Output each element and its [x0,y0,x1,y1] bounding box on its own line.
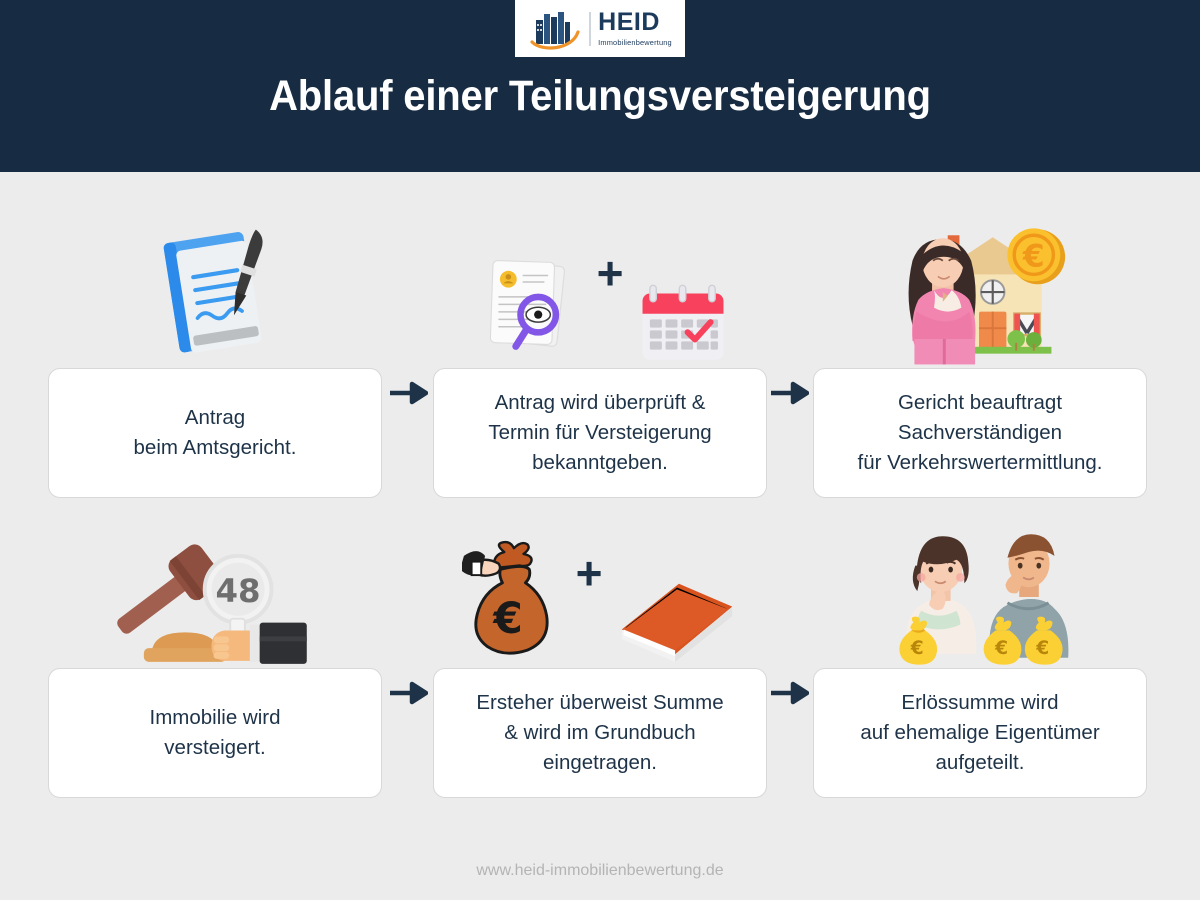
logo-tagline: Immobilienbewertung [598,38,672,47]
appraiser-woman-house-euro-icon: € [889,220,1071,366]
step-6-label: Erlössumme wird auf ehemalige Eigentümer… [860,688,1099,778]
calendar-check-icon [637,280,729,366]
step-4-label: Immobilie wird versteigert. [150,703,281,763]
step-4-illustration: 48 [48,506,382,666]
flow-row-2: 48 Immobilie [0,498,1200,798]
svg-text:€: € [910,638,924,659]
svg-text:€: € [1035,638,1049,659]
svg-text:€: € [994,638,1008,659]
step-3-label: Gericht beauftragt Sachverständigen für … [858,388,1103,478]
flow-arrow-2 [769,380,809,406]
footer-url: www.heid-immobilienbewertung.de [0,862,1200,880]
plus-separator-step5: + [576,550,603,596]
step-6-illustration: € € € [813,506,1147,666]
step-6-card: Erlössumme wird auf ehemalige Eigentümer… [813,668,1147,798]
process-flow: Antrag beim Amtsgericht. [0,172,1200,842]
flow-arrow-3 [388,680,428,706]
flow-step-5: € + [433,498,767,798]
step-3-illustration: € [813,206,1147,366]
flow-arrow-4 [769,680,809,706]
page-title: Ablauf einer Teilungsversteigerung [42,72,1158,121]
heid-logo: HEID Immobilienbewertung [515,0,685,57]
step-5-label: Ersteher überweist Summe & wird im Grund… [476,688,723,778]
step-4-card: Immobilie wird versteigert. [48,668,382,798]
plus-separator-step2: + [597,250,624,296]
svg-text:€: € [492,594,522,643]
step-5-illustration: € + [433,506,767,666]
two-owners-money-bags-icon: € € € [882,528,1078,666]
flow-row-1: Antrag beim Amtsgericht. [0,198,1200,498]
step-2-label: Antrag wird überprüft & Termin für Verst… [488,388,711,478]
building-skyline-icon [528,8,582,50]
svg-text:48: 48 [215,572,260,610]
step-1-label: Antrag beim Amtsgericht. [134,403,297,463]
flow-step-6: € € € [813,498,1147,798]
step-2-card: Antrag wird überprüft & Termin für Verst… [433,368,767,498]
document-with-pen-icon [140,221,290,366]
svg-text:€: € [1022,239,1045,275]
flow-step-3: € [813,198,1147,498]
logo-divider [589,12,591,46]
logo-name: HEID [598,10,660,35]
flow-step-4: 48 Immobilie [48,498,382,798]
flow-arrow-1 [388,380,428,406]
land-register-book-icon [616,570,738,666]
header-banner: HEID Immobilienbewertung Ablauf einer Te… [0,0,1200,172]
step-1-illustration [48,206,382,366]
money-bag-euro-icon: € [462,540,562,666]
infographic-page: HEID Immobilienbewertung Ablauf einer Te… [0,0,1200,900]
logo-wordmark: HEID Immobilienbewertung [598,10,672,47]
step-1-card: Antrag beim Amtsgericht. [48,368,382,498]
step-3-card: Gericht beauftragt Sachverständigen für … [813,368,1147,498]
step-2-illustration: + [433,206,767,366]
document-review-magnifier-icon [471,254,583,366]
gavel-auction-paddle-icon: 48 [83,538,348,666]
flow-step-1: Antrag beim Amtsgericht. [48,198,382,498]
step-5-card: Ersteher überweist Summe & wird im Grund… [433,668,767,798]
flow-step-2: + [433,198,767,498]
